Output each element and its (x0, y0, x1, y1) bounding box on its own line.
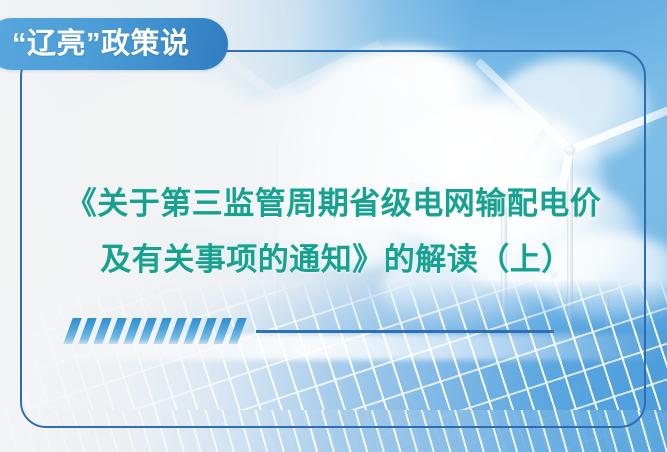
title-line-2: 及有关事项的通知》的解读（上） (0, 232, 667, 288)
title-decoration (68, 318, 554, 344)
slash-mark (228, 318, 246, 344)
title-line-1: 《关于第三监管周期省级电网输配电价 (0, 176, 667, 232)
slash-marks (68, 318, 242, 344)
turbine-hub (565, 145, 576, 156)
policy-poster: “辽亮”政策说 《关于第三监管周期省级电网输配电价 及有关事项的通知》的解读（上… (0, 0, 667, 452)
poster-title: 《关于第三监管周期省级电网输配电价 及有关事项的通知》的解读（上） (0, 176, 667, 288)
column-badge: “辽亮”政策说 (0, 18, 228, 70)
decoration-rule (256, 330, 554, 333)
panel-left-fade (0, 280, 330, 452)
column-badge-label: “辽亮”政策说 (12, 30, 190, 59)
